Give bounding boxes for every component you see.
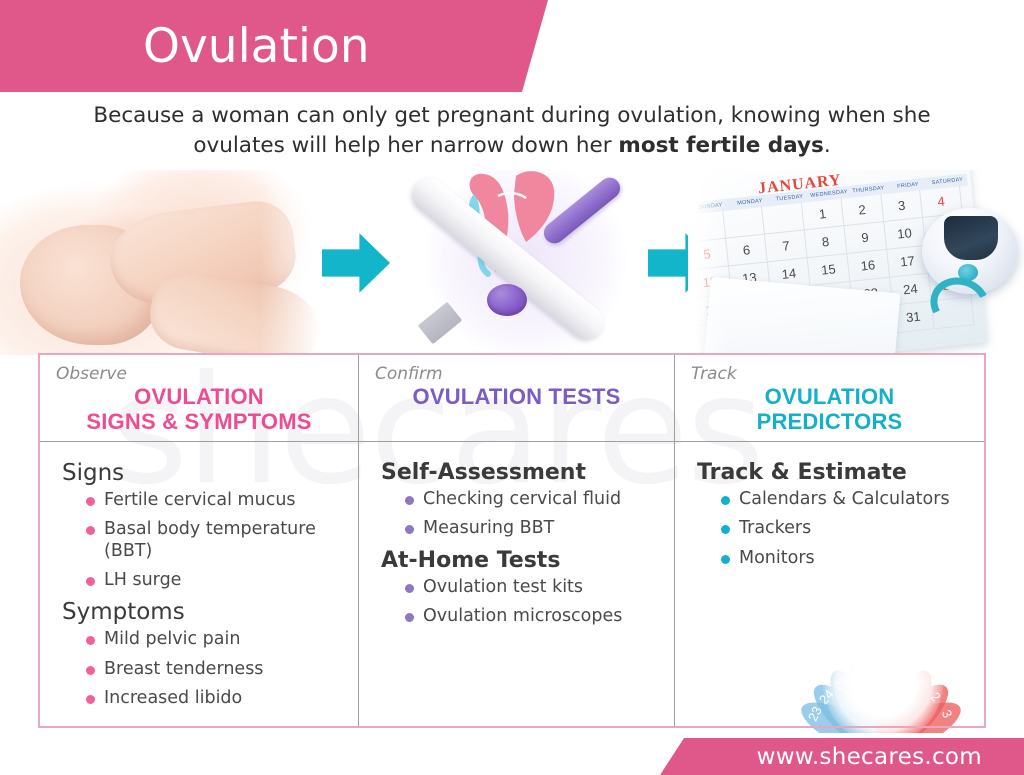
column-body-track: Track & Estimate Calendars & Calculators… — [675, 442, 984, 569]
column-eyebrow: Observe — [56, 364, 127, 384]
calendar-day-cell: 9 — [844, 222, 886, 254]
list-item: Calendars & Calculators — [721, 489, 974, 510]
column-confirm: Confirm OVULATION TESTS Self-Assessment … — [358, 355, 674, 726]
list-item: Fertile cervical mucus — [86, 490, 348, 511]
list-item: Measuring BBT — [405, 518, 664, 539]
page-title: Ovulation — [143, 23, 370, 70]
panel3-fade — [688, 170, 728, 355]
list-item: Trackers — [721, 518, 974, 539]
bullet-list: Ovulation test kitsOvulation microscopes — [375, 577, 664, 628]
calendar-day-cell: 15 — [808, 254, 850, 286]
footer-bar: www.shecares.com — [660, 738, 1024, 775]
column-observe: Observe OVULATION SIGNS & SYMPTOMS Signs… — [40, 355, 358, 726]
group-heading: Signs — [62, 460, 348, 486]
header-banner: Ovulation — [0, 0, 548, 92]
group-heading: Self-Assessment — [381, 460, 664, 485]
column-title-line2: PREDICTORS — [675, 410, 984, 435]
column-title: OVULATION PREDICTORS — [675, 385, 984, 434]
website-url: www.shecares.com — [757, 744, 982, 770]
column-header-track: Track OVULATION PREDICTORS — [675, 355, 984, 442]
calendar-day-cell: 16 — [847, 250, 889, 282]
column-body-observe: Signs Fertile cervical mucusBasal body t… — [40, 442, 358, 709]
breast-self-exam-image — [0, 170, 330, 355]
list-item: Monitors — [721, 548, 974, 569]
bullet-list: Calendars & CalculatorsTrackersMonitors — [691, 489, 974, 569]
column-eyebrow: Track — [691, 364, 737, 384]
image-strip: JANUARY SUNDAYMONDAYTUESDAYWEDNESDAYTHUR… — [0, 170, 1024, 355]
list-item: Increased libido — [86, 688, 348, 709]
bullet-list: Fertile cervical mucusBasal body tempera… — [56, 490, 348, 591]
bullet-list: Mild pelvic painBreast tendernessIncreas… — [56, 629, 348, 709]
list-item: Checking cervical fluid — [405, 489, 664, 510]
column-title-line1: OVULATION — [40, 385, 358, 410]
column-header-observe: Observe OVULATION SIGNS & SYMPTOMS — [40, 355, 358, 442]
bullet-list: Checking cervical fluidMeasuring BBT — [375, 489, 664, 540]
column-title: OVULATION SIGNS & SYMPTOMS — [40, 385, 358, 434]
column-eyebrow: Confirm — [375, 364, 443, 384]
group-heading: Symptoms — [62, 599, 348, 625]
list-item: Breast tenderness — [86, 659, 348, 680]
list-item: Ovulation test kits — [405, 577, 664, 598]
list-item: Mild pelvic pain — [86, 629, 348, 650]
arrow-right-icon-1 — [322, 232, 390, 294]
subtitle-emphasis: most fertile days — [618, 133, 823, 158]
ovulation-test-image — [386, 170, 646, 355]
group-heading: Track & Estimate — [697, 460, 974, 485]
calendar-day-cell — [723, 207, 765, 239]
comparison-table: Observe OVULATION SIGNS & SYMPTOMS Signs… — [38, 353, 986, 728]
subtitle-part2: . — [824, 133, 831, 158]
group-heading: At-Home Tests — [381, 548, 664, 573]
column-header-confirm: Confirm OVULATION TESTS — [359, 355, 674, 442]
infographic-page: Ovulation Because a woman can only get p… — [0, 0, 1024, 775]
calendar-day-cell: 2 — [841, 194, 883, 226]
subtitle: Because a woman can only get pregnant du… — [50, 101, 974, 160]
column-title-line1: OVULATION TESTS — [359, 385, 674, 410]
calendar-day-cell: 1 — [802, 198, 844, 230]
column-track: Track OVULATION PREDICTORS Track & Estim… — [674, 355, 984, 726]
column-title: OVULATION TESTS — [359, 385, 674, 410]
calendar-day-cell: 8 — [805, 226, 847, 258]
calendar-day-cell: 10 — [884, 218, 926, 250]
panel1-fade — [260, 170, 330, 355]
thermometer-button — [487, 284, 527, 316]
column-title-line1: OVULATION — [675, 385, 984, 410]
column-body-confirm: Self-Assessment Checking cervical fluidM… — [359, 442, 674, 627]
calendar-day-cell: 6 — [726, 234, 768, 266]
calendar-day-cell: 7 — [765, 230, 807, 262]
list-item: Ovulation microscopes — [405, 606, 664, 627]
monitor-screen — [944, 216, 998, 260]
column-title-line2: SIGNS & SYMPTOMS — [40, 410, 358, 435]
calendar-monitor-image: JANUARY SUNDAYMONDAYTUESDAYWEDNESDAYTHUR… — [688, 170, 1024, 355]
arrow-shape — [322, 232, 390, 294]
calendar-day-cell: 3 — [881, 190, 923, 222]
calendar-day-cell — [762, 202, 804, 234]
list-item: Basal body temperature (BBT) — [86, 519, 348, 562]
list-item: LH surge — [86, 570, 348, 591]
